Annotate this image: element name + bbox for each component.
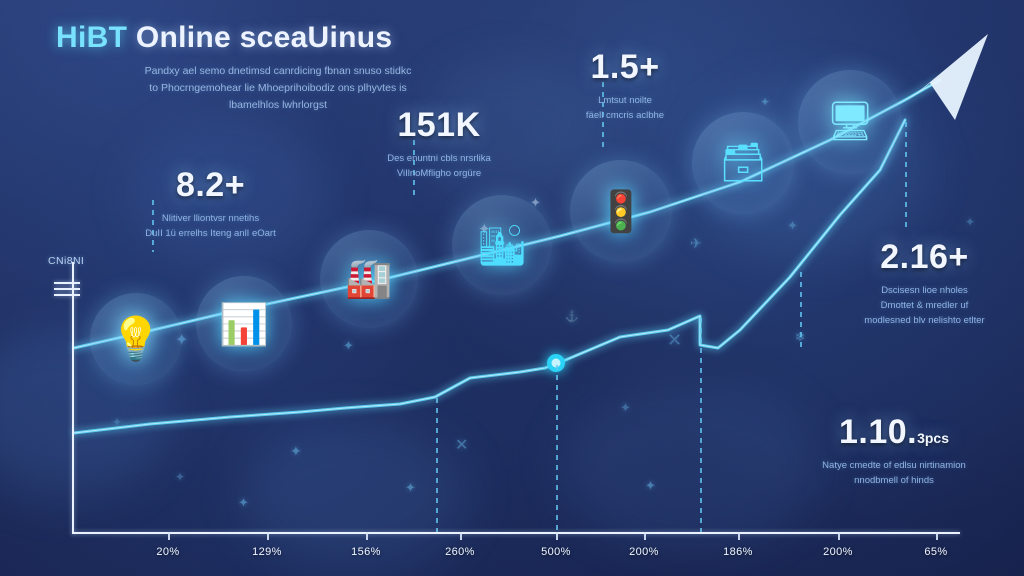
icon-bubble-bar-chart[interactable]: 📊 xyxy=(196,276,292,372)
y-axis xyxy=(72,262,74,534)
lightbulb-icon: 💡 xyxy=(110,315,162,364)
trend-arrowhead-icon xyxy=(906,34,988,120)
x-tick xyxy=(168,532,170,540)
connector-dashed xyxy=(436,398,438,532)
stat-8-2-plus: 8.2+ Nlitiver lliontvsr nnetihsDuII 1ü e… xyxy=(108,168,313,241)
icon-bubble-innovation-hands[interactable]: 🖥 xyxy=(798,70,902,174)
icon-bubble-industry[interactable]: 🚦 xyxy=(570,160,672,262)
stat-value-main: 1.10. xyxy=(839,413,917,451)
stat-151k: 151K Des enuntni cbls nrsrlikaViIlnoMfli… xyxy=(344,108,534,181)
icon-bubble-city-skyline[interactable]: 🏙 xyxy=(452,195,552,295)
x-tick xyxy=(738,532,740,540)
factory-icon: 🏭 xyxy=(345,257,392,301)
x-axis-tick-label: 129% xyxy=(252,546,282,558)
connector-dashed xyxy=(700,318,702,532)
stat-value: 1.10.3pcs xyxy=(782,415,1006,449)
x-axis xyxy=(72,532,960,534)
infographic-canvas: ✦ ✦ ✦ ✦ ✦ ✕ ✦ ✦ ✦ ⚓ ✦ ✕ ✈ ✦ ❄ ✦ ✦ ✦ ✦ Hi… xyxy=(0,0,1024,576)
x-tick xyxy=(460,532,462,540)
y-axis-label: CNi8NI xyxy=(48,255,84,267)
stat-value: 1.5+ xyxy=(540,50,710,84)
x-tick xyxy=(838,532,840,540)
stat-caption: Natye cmedte of edlsu nirtinamionnnodbme… xyxy=(782,458,1006,488)
stat-1-10: 1.10.3pcs Natye cmedte of edlsu nirtinam… xyxy=(782,415,1006,488)
innovation-hands-icon: 🖥 xyxy=(826,100,874,144)
connector-dashed xyxy=(556,365,558,532)
connector-dashed xyxy=(905,122,907,230)
icon-bubble-lightbulb[interactable]: 💡 xyxy=(90,293,182,385)
x-tick xyxy=(936,532,938,540)
bar-chart-icon: 📊 xyxy=(219,301,269,348)
x-axis-tick-label: 500% xyxy=(541,546,571,558)
x-axis-tick-label: 200% xyxy=(629,546,659,558)
stat-1-5-plus: 1.5+ Lmtsut noiltefäell cmcris aclbhe xyxy=(540,50,710,123)
stat-caption: Dscisesn lioe nholesDmottet & mredler uf… xyxy=(832,283,1017,329)
x-tick xyxy=(366,532,368,540)
x-axis-tick-label: 186% xyxy=(723,546,753,558)
x-tick xyxy=(267,532,269,540)
connector-dashed xyxy=(800,272,802,350)
x-axis-tick-label: 200% xyxy=(823,546,853,558)
server-rack-icon: 🗃 xyxy=(719,141,767,185)
stat-value: 2.16+ xyxy=(832,240,1017,274)
stat-value-unit: 3pcs xyxy=(917,430,949,446)
icon-bubble-factory[interactable]: 🏭 xyxy=(320,230,418,328)
stat-value: 151K xyxy=(344,108,534,142)
x-tick xyxy=(644,532,646,540)
x-axis-tick-label: 65% xyxy=(924,546,947,558)
x-tick xyxy=(556,532,558,540)
stat-caption: Lmtsut noiltefäell cmcris aclbhe xyxy=(540,93,710,123)
city-skyline-icon: 🏙 xyxy=(477,222,528,269)
stat-value: 8.2+ xyxy=(108,168,313,202)
stat-caption: Des enuntni cbls nrsrlikaViIlnoMfligho o… xyxy=(344,151,534,181)
stat-2-16-plus: 2.16+ Dscisesn lioe nholesDmottet & mred… xyxy=(832,240,1017,329)
industry-icon: 🚦 xyxy=(596,188,646,235)
icon-bubble-server-rack[interactable]: 🗃 xyxy=(692,112,794,214)
x-axis-tick-label: 156% xyxy=(351,546,381,558)
stat-caption: Nlitiver lliontvsr nnetihsDuII 1ü errelh… xyxy=(108,211,313,241)
legend-mark-icon xyxy=(54,282,80,299)
x-axis-tick-label: 260% xyxy=(445,546,475,558)
x-axis-tick-label: 20% xyxy=(156,546,179,558)
